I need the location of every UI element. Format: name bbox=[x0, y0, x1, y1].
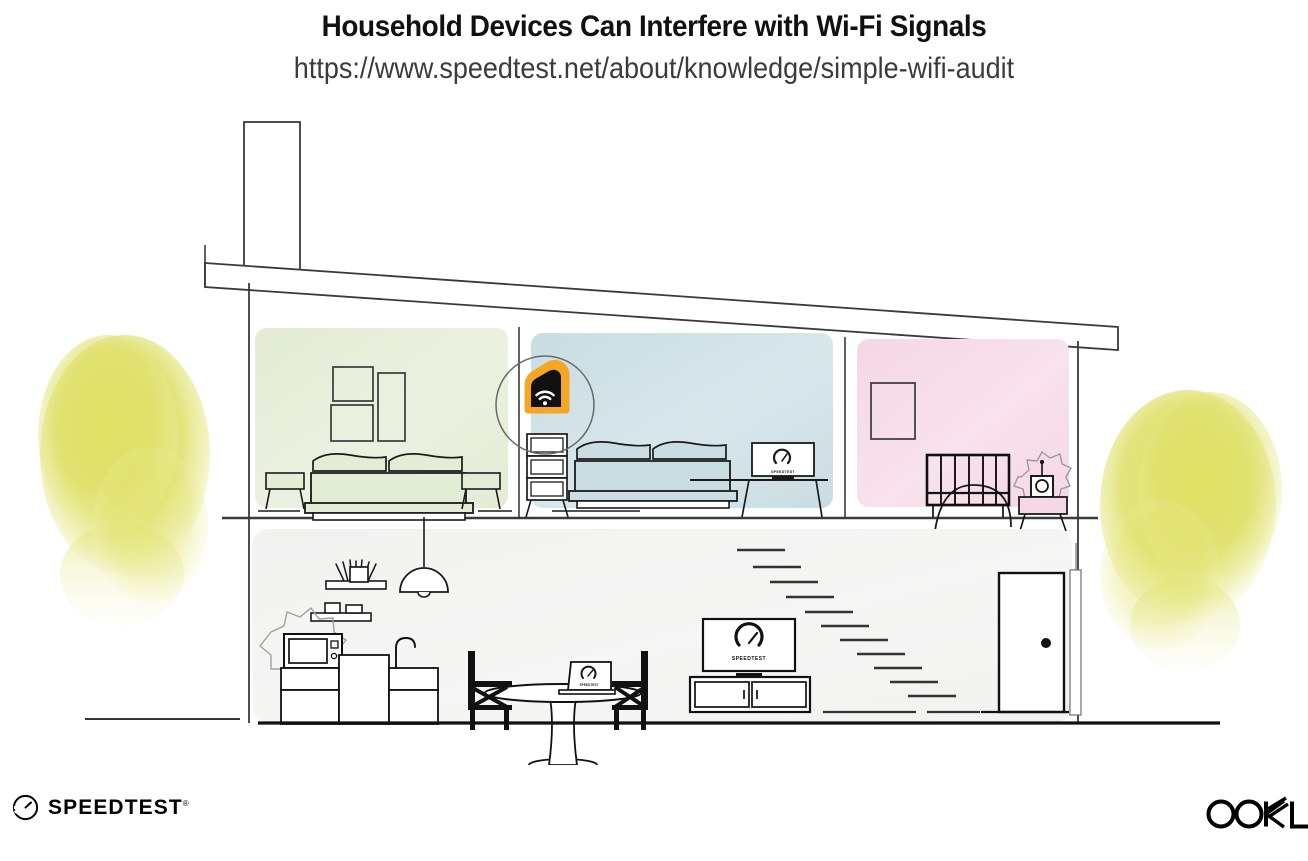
room-nursery-pink bbox=[857, 339, 1071, 561]
tree-right bbox=[1100, 390, 1282, 673]
microwave[interactable] bbox=[284, 634, 342, 668]
header: Household Devices Can Interfere with Wi-… bbox=[0, 0, 1308, 87]
house-illustration: SPEEDTEST bbox=[0, 105, 1308, 765]
laptop-screen-label: SPEEDTEST bbox=[580, 683, 599, 687]
bed-green bbox=[305, 454, 473, 520]
footer: SPEEDTEST® bbox=[0, 790, 1308, 850]
page-url: https://www.speedtest.net/about/knowledg… bbox=[65, 51, 1242, 87]
room-bedroom-green bbox=[255, 328, 512, 520]
house-cutaway-svg: SPEEDTEST bbox=[0, 105, 1308, 765]
speedtest-wordmark: SPEEDTEST® bbox=[48, 796, 189, 820]
trademark-symbol: ® bbox=[183, 799, 189, 808]
nightstand-nursery bbox=[1019, 497, 1067, 531]
television[interactable]: SPEEDTEST bbox=[703, 619, 795, 677]
monitor-blue[interactable]: SPEEDTEST bbox=[752, 443, 814, 479]
room-bedroom-blue: SPEEDTEST bbox=[496, 333, 833, 517]
speedtest-gauge-icon bbox=[12, 794, 39, 821]
tree-left bbox=[38, 335, 210, 627]
chimney bbox=[244, 122, 300, 270]
door-knob-icon bbox=[1041, 638, 1051, 648]
page-title: Household Devices Can Interfere with Wi-… bbox=[46, 9, 1262, 45]
bed-blue bbox=[569, 442, 737, 508]
ookla-logo-icon bbox=[1204, 796, 1308, 832]
room-kitchen-living: SPEEDTEST SPEEDTEST bbox=[252, 517, 1072, 765]
wifi-router[interactable] bbox=[528, 363, 566, 410]
media-console bbox=[690, 677, 810, 712]
tv-screen-label: SPEEDTEST bbox=[732, 656, 766, 662]
speedtest-logo[interactable]: SPEEDTEST® bbox=[12, 794, 189, 821]
monitor-screen-label: SPEEDTEST bbox=[771, 470, 796, 474]
ookla-logo[interactable] bbox=[1204, 796, 1308, 832]
